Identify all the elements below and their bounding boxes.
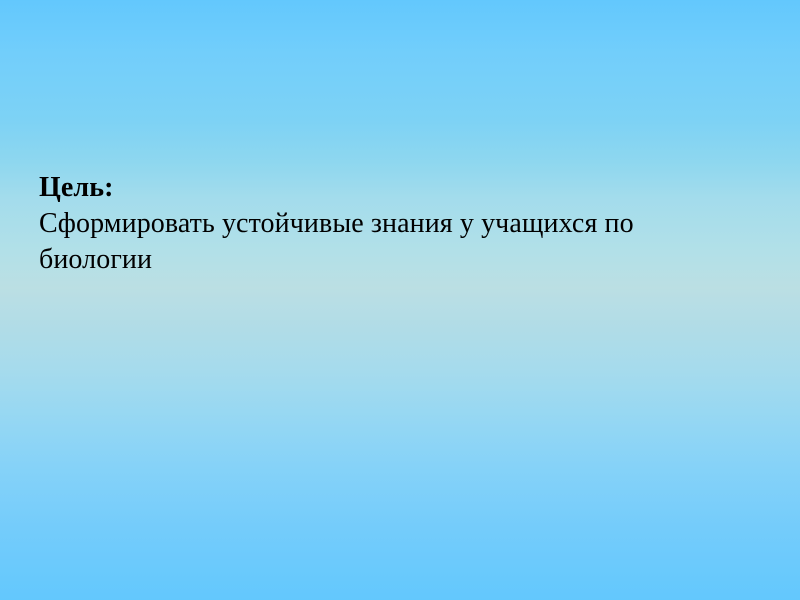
slide-body-line-2: биологии <box>39 242 709 278</box>
slide-body-line-1: Сформировать устойчивые знания у учащихс… <box>39 206 709 242</box>
slide-body-text: Сформировать устойчивые знания у учащихс… <box>39 206 709 278</box>
slide-heading: Цель: <box>39 170 739 206</box>
slide-text-block: Цель: Сформировать устойчивые знания у у… <box>39 170 739 278</box>
presentation-slide: Цель: Сформировать устойчивые знания у у… <box>0 0 800 600</box>
